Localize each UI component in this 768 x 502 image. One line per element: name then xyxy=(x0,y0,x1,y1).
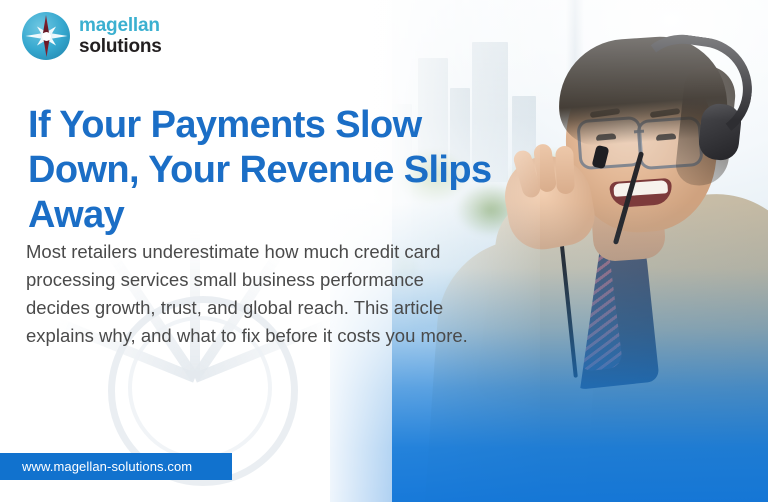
brand-logo[interactable]: magellan solutions xyxy=(22,12,162,60)
website-url-bar[interactable]: www.magellan-solutions.com xyxy=(0,453,232,480)
website-url-text: www.magellan-solutions.com xyxy=(0,459,192,474)
compass-hub xyxy=(42,32,51,41)
agent-finger xyxy=(555,146,575,195)
agent-teeth xyxy=(613,180,668,197)
brand-name-primary: magellan xyxy=(79,16,162,35)
marketing-banner: magellan solutions If Your Payments Slow… xyxy=(0,0,768,502)
compass-rose-icon xyxy=(22,12,70,60)
headline: If Your Payments Slow Down, Your Revenue… xyxy=(28,103,528,237)
subcopy: Most retailers underestimate how much cr… xyxy=(26,238,478,350)
brand-name-secondary: solutions xyxy=(79,37,162,56)
brand-wordmark: magellan solutions xyxy=(79,16,162,56)
